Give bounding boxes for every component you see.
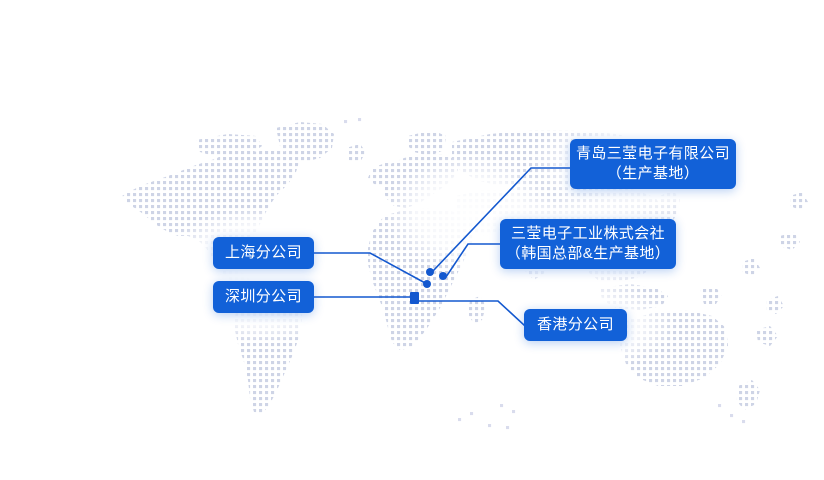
label-qingdao-line1: 青岛三莹电子有限公司 xyxy=(576,144,730,164)
label-shanghai[interactable]: 上海分公司 xyxy=(213,237,314,269)
label-shenzhen[interactable]: 深圳分公司 xyxy=(213,281,314,313)
world-map-infographic: 青岛三莹电子有限公司 （生产基地） 三莹电子工业株式会社 （韩国总部&生产基地）… xyxy=(0,0,824,480)
label-hongkong-line1: 香港分公司 xyxy=(537,315,614,335)
marker-shanghai[interactable] xyxy=(423,280,431,288)
label-korea-hq[interactable]: 三莹电子工业株式会社 （韩国总部&生产基地） xyxy=(500,219,676,269)
label-korea-line2: （韩国总部&生产基地） xyxy=(506,244,670,264)
label-shanghai-line1: 上海分公司 xyxy=(225,243,302,263)
world-dot-map xyxy=(0,0,824,480)
marker-qingdao[interactable] xyxy=(426,268,434,276)
label-shenzhen-line1: 深圳分公司 xyxy=(225,287,302,307)
label-qingdao-line2: （生产基地） xyxy=(607,164,699,184)
marker-shenzhen[interactable] xyxy=(410,292,419,304)
label-korea-line1: 三莹电子工业株式会社 xyxy=(511,224,665,244)
label-hongkong[interactable]: 香港分公司 xyxy=(524,309,627,341)
label-qingdao[interactable]: 青岛三莹电子有限公司 （生产基地） xyxy=(570,139,736,189)
marker-korea[interactable] xyxy=(439,272,447,280)
